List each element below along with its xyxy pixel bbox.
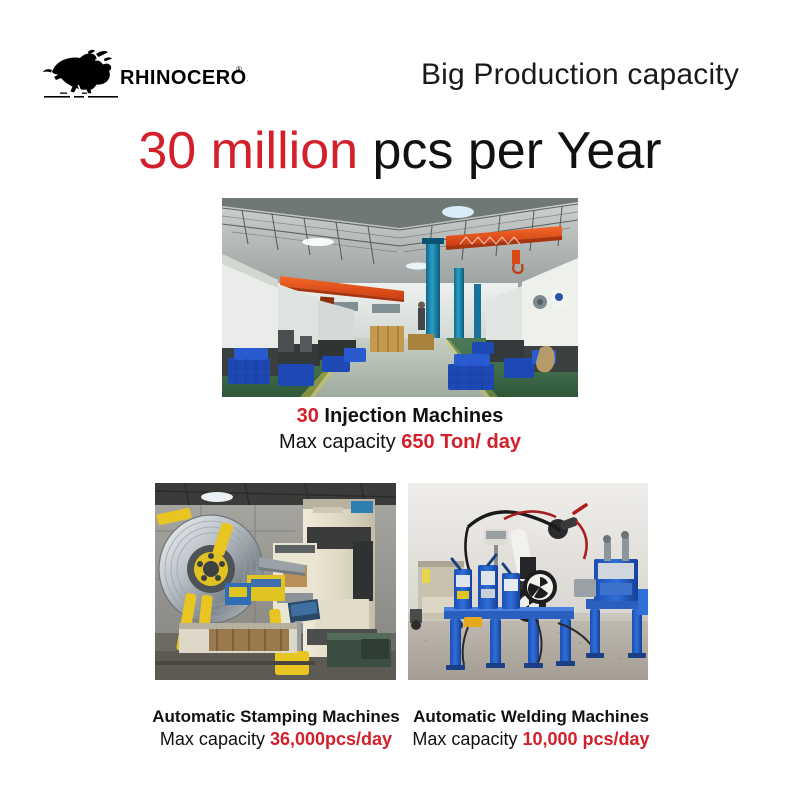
caption-stamping-line1: Automatic Stamping Machines	[140, 706, 412, 728]
injection-capacity-value: 650 Ton/ day	[401, 431, 521, 453]
injection-machine-label: Injection Machines	[319, 405, 503, 427]
automatic-welding-machine-photo	[408, 483, 648, 680]
automatic-stamping-machine-photo	[155, 483, 396, 680]
headline: 30 million pcs per Year	[0, 125, 800, 177]
page-title: Big Production capacity	[395, 58, 765, 92]
injection-molding-workshop-photo	[222, 198, 578, 397]
logo-wordmark: RHINOCEROS	[120, 67, 248, 89]
registered-trademark-icon: ®	[236, 65, 242, 74]
caption-injection-line1: 30 Injection Machines	[200, 404, 600, 430]
caption-stamping-line2: Max capacity 36,000pcs/day	[140, 728, 412, 751]
caption-stamping: Automatic Stamping Machines Max capacity…	[140, 706, 412, 751]
welding-capacity-label: Max capacity	[412, 729, 522, 749]
production-capacity-slide: RHINOCEROS ® Big Production capacity 30 …	[0, 0, 800, 800]
caption-injection: 30 Injection Machines Max capacity 650 T…	[200, 404, 600, 455]
rhinoceros-logo: RHINOCEROS ®	[38, 48, 248, 102]
stamping-capacity-value: 36,000pcs/day	[270, 729, 392, 749]
caption-welding-line1: Automatic Welding Machines	[395, 706, 667, 728]
caption-welding: Automatic Welding Machines Max capacity …	[395, 706, 667, 751]
headline-rest: pcs per Year	[358, 122, 662, 180]
headline-highlight: 30 million	[138, 122, 358, 180]
caption-welding-line2: Max capacity 10,000 pcs/day	[395, 728, 667, 751]
caption-injection-line2: Max capacity 650 Ton/ day	[200, 430, 600, 456]
welding-capacity-value: 10,000 pcs/day	[522, 729, 649, 749]
injection-machine-count: 30	[297, 405, 319, 427]
injection-capacity-label: Max capacity	[279, 431, 401, 453]
stamping-capacity-label: Max capacity	[160, 729, 270, 749]
